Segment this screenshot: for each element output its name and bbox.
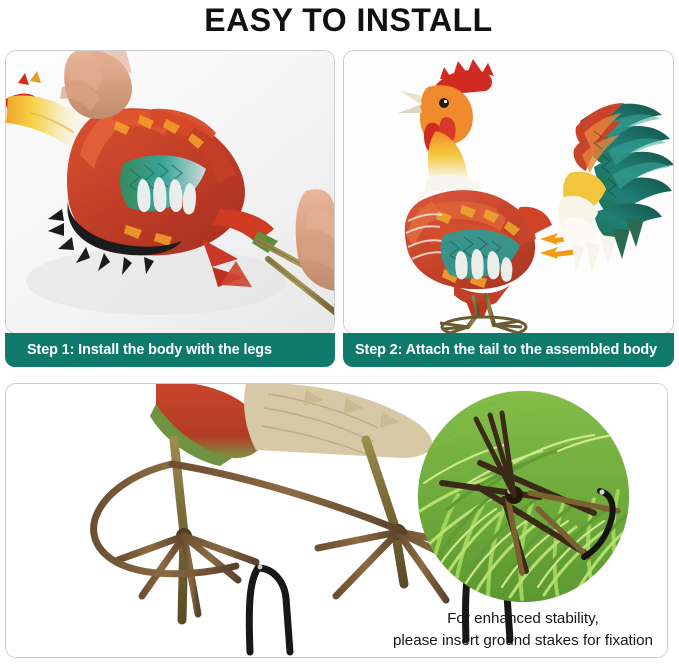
stability-note: For enhanced stability, please insert gr… — [373, 608, 668, 651]
panel-step-2 — [343, 50, 674, 334]
caption-step-1: Step 1: Install the body with the legs — [5, 333, 335, 367]
panel-ground-stakes: For enhanced stability, please insert gr… — [5, 383, 668, 658]
stability-note-line-1: For enhanced stability, — [373, 608, 668, 630]
caption-step-2: Step 2: Attach the tail to the assembled… — [343, 333, 674, 367]
photo-step-1 — [6, 51, 334, 333]
illustration-install-legs — [6, 51, 334, 333]
panel-step-1 — [5, 50, 335, 334]
infographic-root: EASY TO INSTALL — [0, 0, 679, 669]
photo-step-2 — [344, 51, 673, 333]
illustration-stake-in-grass — [418, 391, 629, 602]
grass-circle-inset — [418, 391, 629, 602]
illustration-attach-tail — [344, 51, 673, 333]
page-title: EASY TO INSTALL — [0, 2, 679, 39]
stability-note-line-2: please insert ground stakes for fixation — [373, 630, 668, 652]
